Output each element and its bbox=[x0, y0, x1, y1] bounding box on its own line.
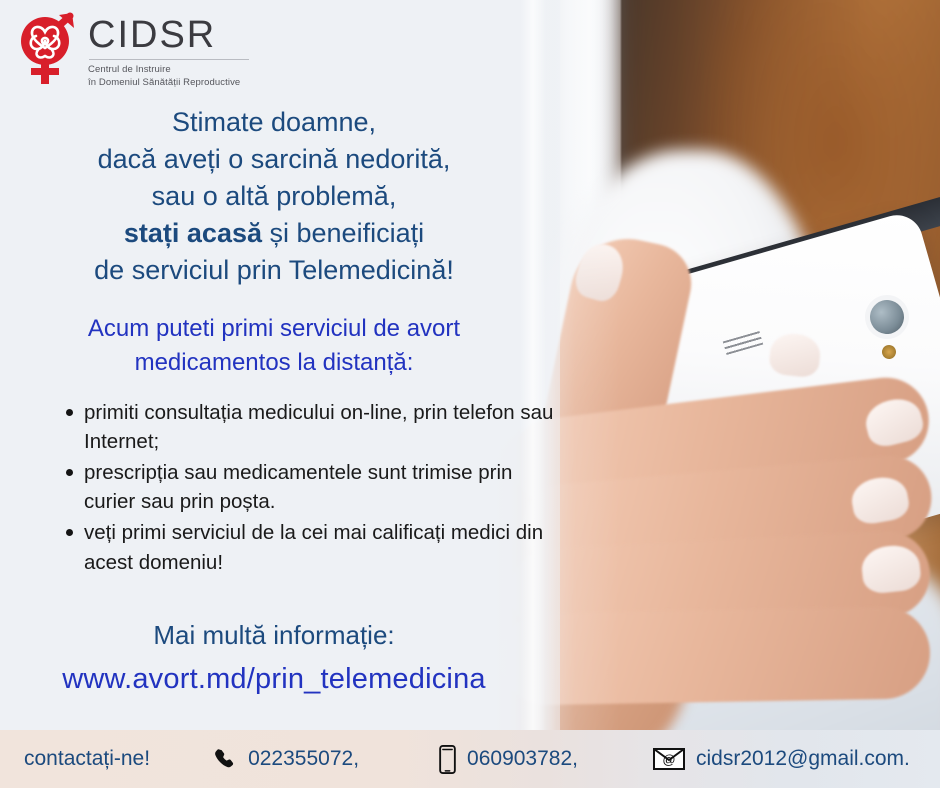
mobile-number: 060903782, bbox=[467, 747, 578, 771]
headline-line-5: de serviciul prin Telemedicină! bbox=[0, 252, 548, 289]
landline-cell[interactable]: 022355072, bbox=[213, 747, 359, 771]
subheadline-line-2: medicamentos la distanță: bbox=[0, 346, 548, 380]
subheadline-line-1: Acum puteti primi serviciul de avort bbox=[0, 312, 548, 346]
mobile-phone-icon bbox=[439, 745, 456, 774]
logo-subtitle-line-1: Centrul de Instruire bbox=[88, 64, 249, 77]
mobile-cell[interactable]: 060903782, bbox=[439, 745, 578, 774]
website-url[interactable]: www.avort.md/prin_telemedicina bbox=[0, 663, 548, 696]
gender-symbols-heart-knot-logo bbox=[14, 8, 78, 86]
headline-emphasis: stați acasă bbox=[124, 218, 262, 248]
headline: Stimate doamne, dacă aveți o sarcină ned… bbox=[0, 104, 548, 289]
logo-brand: CIDSR bbox=[88, 16, 249, 54]
landline-number: 022355072, bbox=[248, 747, 359, 771]
telephone-handset-icon bbox=[213, 747, 237, 771]
subheadline: Acum puteti primi serviciul de avort med… bbox=[0, 312, 548, 379]
headline-line-4: stați acasă și beneificiați bbox=[0, 215, 548, 252]
logo-wordmark: CIDSR Centrul de Instruire în Domeniul S… bbox=[88, 8, 249, 89]
headline-line-3: sau o altă problemă, bbox=[0, 178, 548, 215]
cidsr-logo: CIDSR Centrul de Instruire în Domeniul S… bbox=[14, 8, 249, 89]
logo-subtitle: Centrul de Instruire în Domeniul Sănătăț… bbox=[88, 64, 249, 89]
contact-label-cell: contactați-ne! bbox=[24, 747, 150, 771]
list-item: prescripția sau medicamentele sunt trimi… bbox=[84, 458, 554, 516]
list-item: primiti consultația medicului on-line, p… bbox=[84, 398, 554, 456]
logo-subtitle-line-2: în Domeniul Sănătății Reproductive bbox=[88, 77, 249, 90]
telemedicine-poster: CIDSR Centrul de Instruire în Domeniul S… bbox=[0, 0, 940, 788]
envelope-at-icon: @ bbox=[653, 748, 685, 770]
headline-line-4-rest: și beneificiați bbox=[262, 218, 424, 248]
contact-label: contactați-ne! bbox=[24, 747, 150, 771]
email-cell[interactable]: @ cidsr2012@gmail.com. bbox=[653, 747, 910, 771]
service-bullet-list: primiti consultația medicului on-line, p… bbox=[62, 398, 554, 579]
headline-line-2: dacă aveți o sarcină nedorită, bbox=[0, 141, 548, 178]
contact-footer: contactați-ne! 022355072, 060903782, bbox=[0, 730, 940, 788]
svg-text:@: @ bbox=[662, 752, 675, 767]
headline-line-1: Stimate doamne, bbox=[0, 104, 548, 141]
more-info-label: Mai multă informație: bbox=[0, 620, 548, 651]
logo-divider bbox=[89, 59, 249, 60]
email-address: cidsr2012@gmail.com. bbox=[696, 747, 910, 771]
list-item: veți primi serviciul de la cei mai calif… bbox=[84, 518, 554, 576]
